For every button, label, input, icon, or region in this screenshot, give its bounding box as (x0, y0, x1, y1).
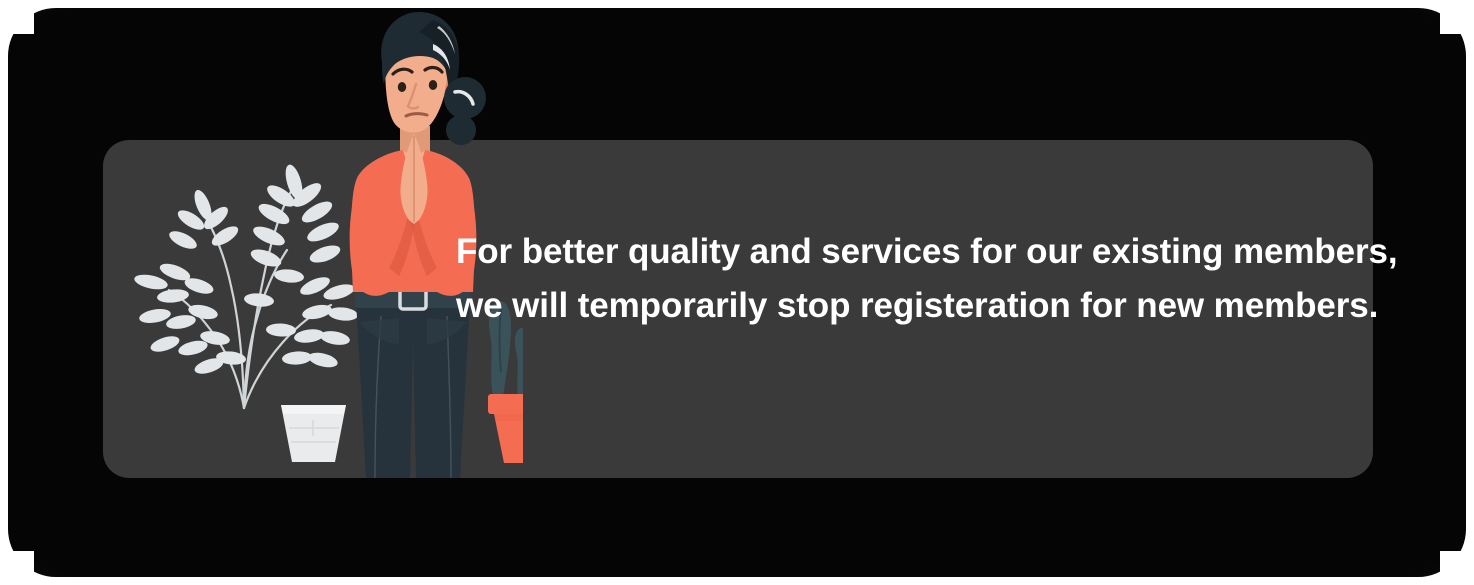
leafy-plant-icon (133, 163, 359, 462)
right-eye (429, 80, 437, 90)
left-eye (398, 82, 406, 92)
cactus-pot-rim (488, 394, 523, 414)
notice-message-line-2: we will temporarily stop registeration f… (456, 279, 1366, 333)
notice-card: For better quality and services for our … (103, 140, 1373, 478)
cactus-stem-middle (515, 328, 523, 398)
notice-message-line-1: For better quality and services for our … (456, 225, 1366, 279)
hair-bun (444, 77, 486, 119)
screen-root: For better quality and services for our … (0, 0, 1474, 585)
cactus-pot (494, 414, 523, 463)
notice-message: For better quality and services for our … (456, 225, 1366, 333)
